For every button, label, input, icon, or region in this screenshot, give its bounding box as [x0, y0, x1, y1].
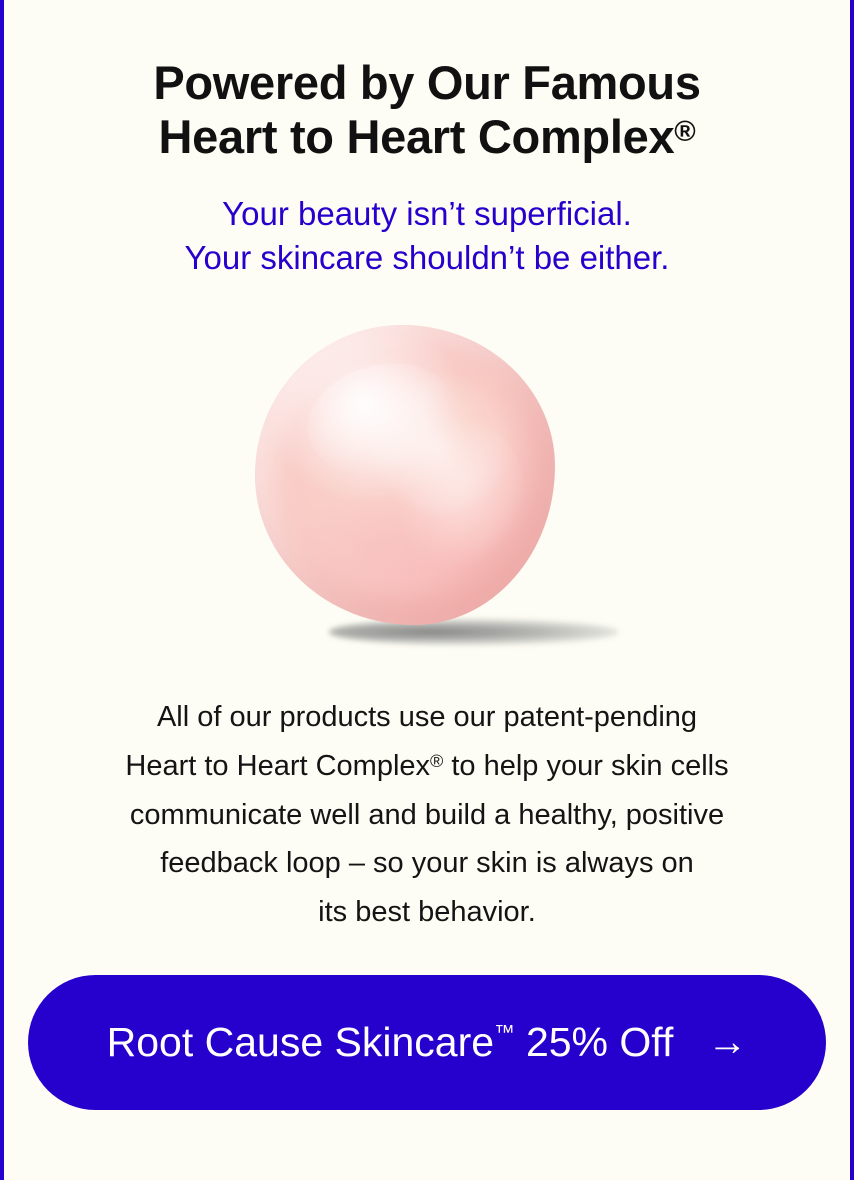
- body-line-1: All of our products use our patent-pendi…: [157, 701, 697, 733]
- stone-highlight-b: [375, 405, 543, 587]
- cta-container: Root Cause Skincare™ 25% Off →: [28, 975, 826, 1110]
- stone-highlight-a: [296, 349, 468, 490]
- body-line-2-after: to help your skin cells: [443, 750, 728, 782]
- subheadline-line-2: Your skincare shouldn’t be either.: [185, 239, 670, 276]
- subheadline: Your beauty isn’t superficial. Your skin…: [87, 192, 767, 279]
- product-image-shadow: [329, 619, 619, 645]
- pink-stone-icon: [255, 325, 555, 625]
- registered-trademark-icon: ®: [674, 116, 695, 148]
- trademark-icon: ™: [494, 1021, 515, 1044]
- body-line-2-before: Heart to Heart Complex: [125, 750, 430, 782]
- promo-card: Powered by Our Famous Heart to Heart Com…: [0, 0, 854, 1180]
- body-line-3: communicate well and build a healthy, po…: [130, 799, 724, 831]
- headline-line-1: Powered by Our Famous: [153, 56, 700, 109]
- cta-label-before: Root Cause Skincare: [107, 1019, 494, 1065]
- cta-label-after: 25% Off: [515, 1019, 674, 1065]
- stone-highlight-c: [288, 484, 472, 617]
- page-title: Powered by Our Famous Heart to Heart Com…: [107, 56, 747, 164]
- root-cause-skincare-offer-button[interactable]: Root Cause Skincare™ 25% Off →: [28, 975, 826, 1110]
- cta-button-label: Root Cause Skincare™ 25% Off: [107, 1019, 674, 1066]
- headline-line-2: Heart to Heart Complex: [159, 110, 675, 163]
- arrow-right-icon: →: [707, 1022, 747, 1062]
- body-copy: All of our products use our patent-pendi…: [57, 693, 797, 937]
- subheadline-line-1: Your beauty isn’t superficial.: [222, 195, 632, 232]
- body-line-4: feedback loop – so your skin is always o…: [160, 847, 694, 879]
- body-line-5: its best behavior.: [318, 896, 536, 928]
- registered-trademark-icon: ®: [430, 751, 443, 771]
- stone-highlight-d: [423, 355, 531, 475]
- product-image: [217, 309, 637, 659]
